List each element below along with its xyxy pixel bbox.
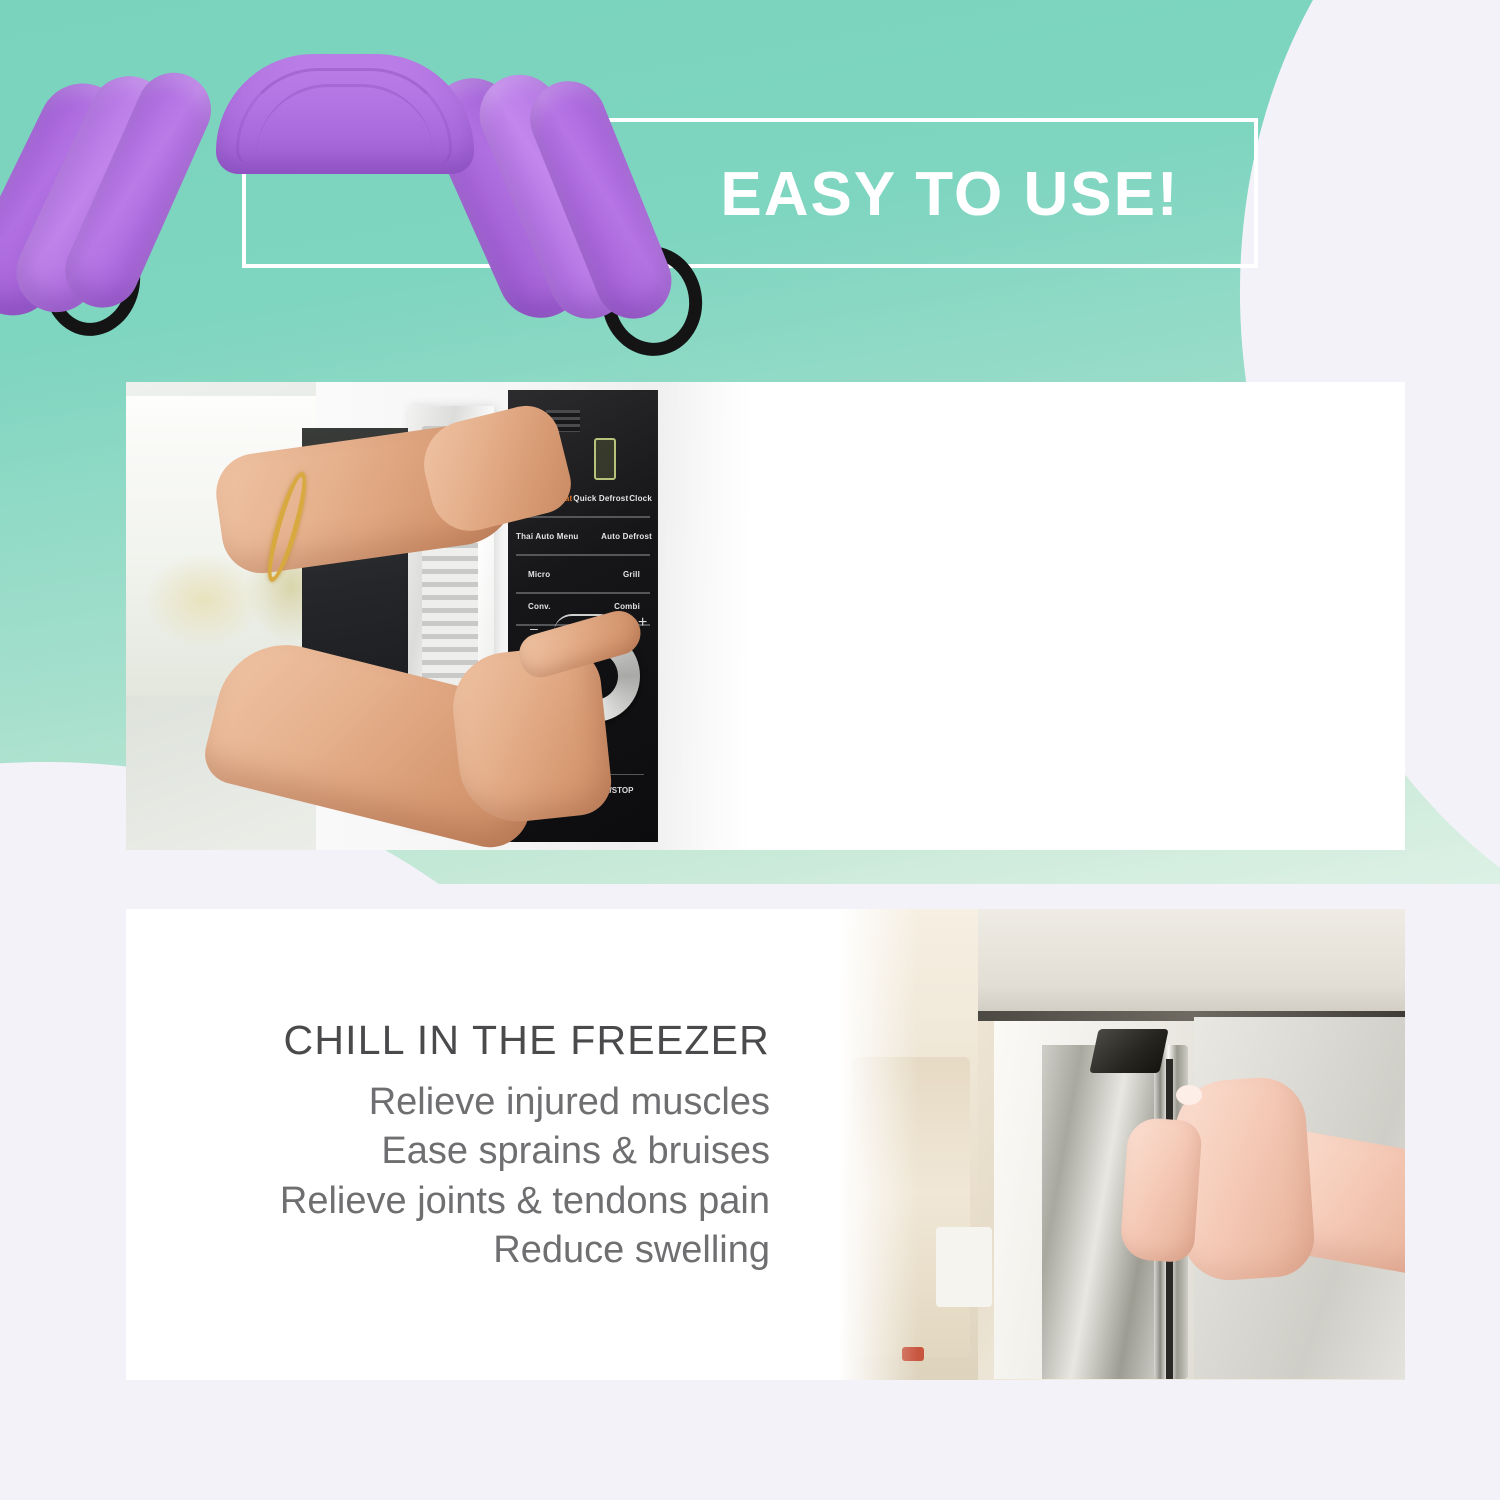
- conv-label[interactable]: Conv.: [528, 602, 551, 611]
- freezer-fingers: [1119, 1117, 1203, 1264]
- combi-label[interactable]: Combi: [614, 602, 640, 611]
- panel-row-4: Conv. Combi: [528, 602, 640, 611]
- photo-left-fade: [828, 909, 918, 1380]
- freezer-photo: [828, 909, 1405, 1380]
- chill-bullet-2: Ease sprains & bruises: [160, 1127, 770, 1176]
- thai-auto-menu-label[interactable]: Thai Auto Menu: [516, 532, 579, 541]
- microwave-display: [594, 438, 616, 480]
- panel-divider-3: [516, 592, 650, 594]
- chill-panel-text: CHILL IN THE FREEZER Relieve injured mus…: [160, 1018, 770, 1275]
- panel-row-2: Thai Auto Menu Auto Defrost: [516, 532, 652, 541]
- chill-bullet-4: Reduce swelling: [160, 1226, 770, 1275]
- grill-label[interactable]: Grill: [623, 570, 640, 579]
- shelf-item: [936, 1227, 992, 1307]
- clock-label[interactable]: Clock: [629, 494, 652, 503]
- chill-panel-bullets: Relieve injured muscles Ease sprains & b…: [160, 1078, 770, 1276]
- microwave-photo: Crispy Reheat Quick Defrost Clock Thai A…: [126, 382, 766, 850]
- photo-right-fade: [656, 382, 766, 850]
- product-image-wrap: [40, 28, 700, 348]
- fingernail: [1176, 1085, 1202, 1105]
- fridge-handle-bracket: [1089, 1029, 1168, 1073]
- panel-row-3: Micro Grill: [528, 570, 640, 579]
- auto-defrost-label[interactable]: Auto Defrost: [601, 532, 652, 541]
- chill-bullet-1: Relieve injured muscles: [160, 1078, 770, 1127]
- fridge-top-section: [978, 909, 1405, 1017]
- page-title: EASY TO USE!: [640, 142, 1260, 247]
- micro-label[interactable]: Micro: [528, 570, 550, 579]
- infographic-root: EASY TO USE! Crispy: [0, 0, 1500, 1500]
- chill-bullet-3: Relieve joints & tendons pain: [160, 1177, 770, 1226]
- panel-divider-2: [516, 554, 650, 556]
- quick-defrost-label[interactable]: Quick Defrost: [573, 494, 628, 503]
- chill-panel-heading: CHILL IN THE FREEZER: [160, 1018, 770, 1064]
- chill-panel-card: CHILL IN THE FREEZER Relieve injured mus…: [126, 909, 1405, 1380]
- heat-panel-card: Crispy Reheat Quick Defrost Clock Thai A…: [126, 382, 1405, 850]
- panel-divider-1: [516, 516, 650, 518]
